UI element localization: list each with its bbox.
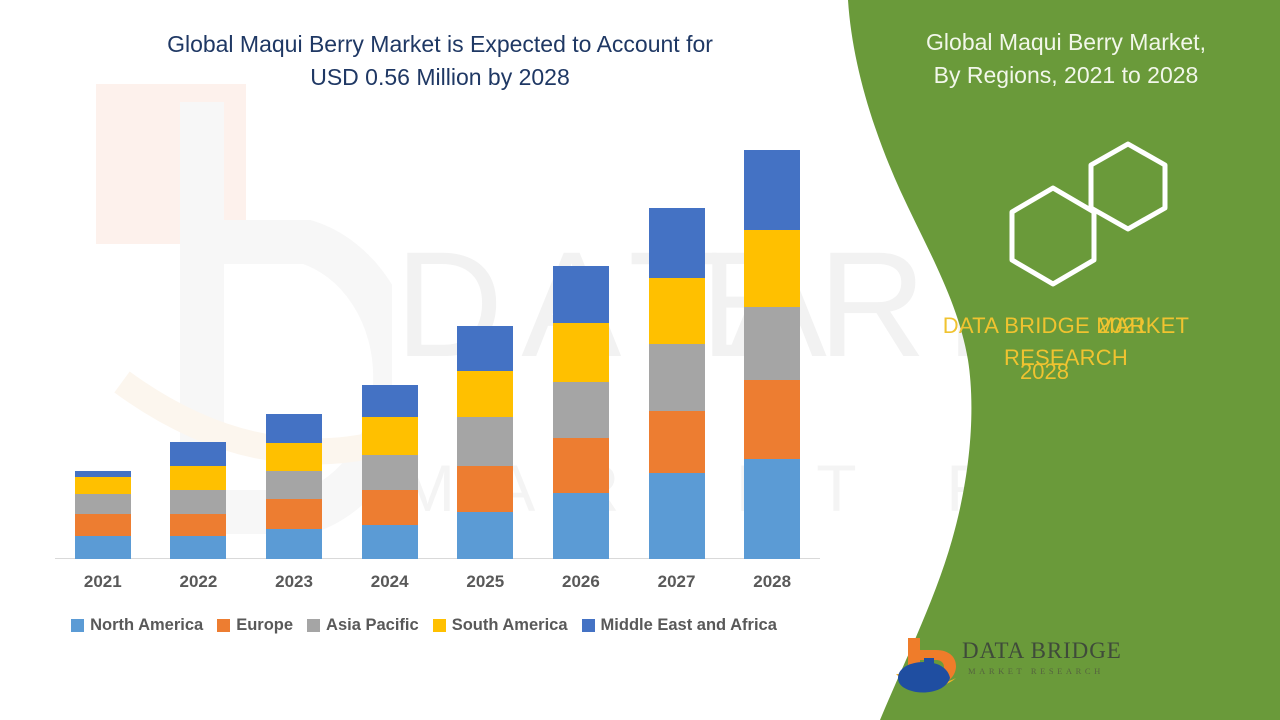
bar-segment: [266, 529, 322, 559]
bar-segment: [266, 443, 322, 472]
bar-segment: [362, 455, 418, 490]
legend-swatch-icon: [307, 619, 320, 632]
logo-wordmark: DATA BRIDGE: [962, 638, 1122, 664]
x-axis-label: 2027: [634, 572, 720, 592]
bar-segment: [553, 438, 609, 493]
bar-segment: [457, 371, 513, 417]
bar-segment: [75, 477, 131, 495]
company-logo: DATA BRIDGE MARKET RESEARCH: [890, 630, 1120, 700]
bar-segment: [266, 414, 322, 443]
x-axis-label: 2025: [442, 572, 528, 592]
bar-stack: [170, 442, 226, 559]
page-title: Global Maqui Berry Market is Expected to…: [40, 28, 840, 95]
bar-segment: [553, 382, 609, 438]
bar-segment: [649, 208, 705, 278]
bar-segment: [744, 230, 800, 307]
bar-stack: [553, 266, 609, 559]
panel-title-line2: By Regions, 2021 to 2028: [880, 59, 1252, 92]
stacked-bar-plot: [55, 120, 820, 559]
legend-label: North America: [90, 616, 203, 635]
bar-segment: [649, 344, 705, 411]
legend-swatch-icon: [582, 619, 595, 632]
bar-segment: [170, 514, 226, 536]
legend-item[interactable]: Middle East and Africa: [582, 616, 777, 635]
bar-segment: [744, 307, 800, 381]
bar-segment: [75, 514, 131, 536]
bar-segment: [362, 385, 418, 418]
brand-name: DATA BRIDGE MARKET RESEARCH: [880, 310, 1252, 374]
bar-segment: [744, 380, 800, 459]
bar-segment: [744, 150, 800, 230]
green-panel-content: Global Maqui Berry Market, By Regions, 2…: [880, 0, 1280, 720]
bar-stack: [75, 471, 131, 559]
legend-swatch-icon: [71, 619, 84, 632]
legend-item[interactable]: Europe: [217, 616, 293, 635]
legend-item[interactable]: South America: [433, 616, 568, 635]
bar-segment: [362, 417, 418, 454]
x-axis-label: 2021: [60, 572, 146, 592]
bar-segment: [75, 494, 131, 514]
page-title-line2: USD 0.56 Million by 2028: [40, 61, 840, 94]
legend-item[interactable]: North America: [71, 616, 203, 635]
bar-segment: [266, 499, 322, 530]
hexagon-2028-outline: [1012, 188, 1094, 284]
x-axis-label: 2023: [251, 572, 337, 592]
bar-segment: [75, 536, 131, 559]
page-title-line1: Global Maqui Berry Market is Expected to…: [40, 28, 840, 61]
bar-stack: [362, 385, 418, 559]
legend-item[interactable]: Asia Pacific: [307, 616, 419, 635]
bar-segment: [649, 411, 705, 474]
legend-swatch-icon: [433, 619, 446, 632]
x-axis-label: 2024: [347, 572, 433, 592]
bar-stack: [266, 414, 322, 559]
brand-name-line2: RESEARCH: [880, 342, 1252, 374]
x-axis-label: 2026: [538, 572, 624, 592]
bar-segment: [457, 326, 513, 371]
x-axis-label: 2022: [155, 572, 241, 592]
legend-swatch-icon: [217, 619, 230, 632]
hexagon-badges: 2021 2028: [880, 140, 1252, 300]
bar-segment: [170, 442, 226, 466]
bar-segment: [170, 466, 226, 490]
bar-segment: [744, 459, 800, 559]
brand-name-line1: DATA BRIDGE MARKET: [880, 310, 1252, 342]
infographic-slide: DATA BRIDGE MARKET RESEARCH Global Maqui…: [0, 0, 1280, 720]
bar-stack: [744, 150, 800, 559]
chart-legend: North AmericaEuropeAsia PacificSouth Ame…: [0, 616, 848, 635]
legend-label: Europe: [236, 616, 293, 635]
hexagon-2021-outline: [1091, 144, 1165, 229]
logo-tagline: MARKET RESEARCH: [968, 666, 1104, 676]
bar-segment: [553, 266, 609, 323]
bar-segment: [649, 278, 705, 344]
bar-stack: [649, 208, 705, 559]
bar-segment: [170, 490, 226, 514]
x-axis-label: 2028: [729, 572, 815, 592]
bar-segment: [362, 490, 418, 525]
legend-label: Middle East and Africa: [601, 616, 777, 635]
legend-label: Asia Pacific: [326, 616, 419, 635]
bar-stack: [457, 326, 513, 559]
logo-mark-icon: [894, 634, 964, 696]
bar-segment: [649, 473, 705, 559]
chart-container: Global Maqui Berry Market is Expected to…: [0, 0, 848, 720]
bar-segment: [553, 323, 609, 382]
bar-segment: [457, 512, 513, 559]
bar-segment: [457, 466, 513, 512]
hexagon-outlines-svg: [880, 140, 1252, 300]
bar-segment: [266, 471, 322, 498]
bar-segment: [553, 493, 609, 559]
legend-label: South America: [452, 616, 568, 635]
bar-segment: [362, 525, 418, 559]
panel-title-line1: Global Maqui Berry Market,: [880, 26, 1252, 59]
bar-segment: [457, 417, 513, 465]
panel-title: Global Maqui Berry Market, By Regions, 2…: [880, 26, 1252, 93]
bar-segment: [170, 536, 226, 559]
x-axis-labels: 20212022202320242025202620272028: [55, 572, 820, 602]
